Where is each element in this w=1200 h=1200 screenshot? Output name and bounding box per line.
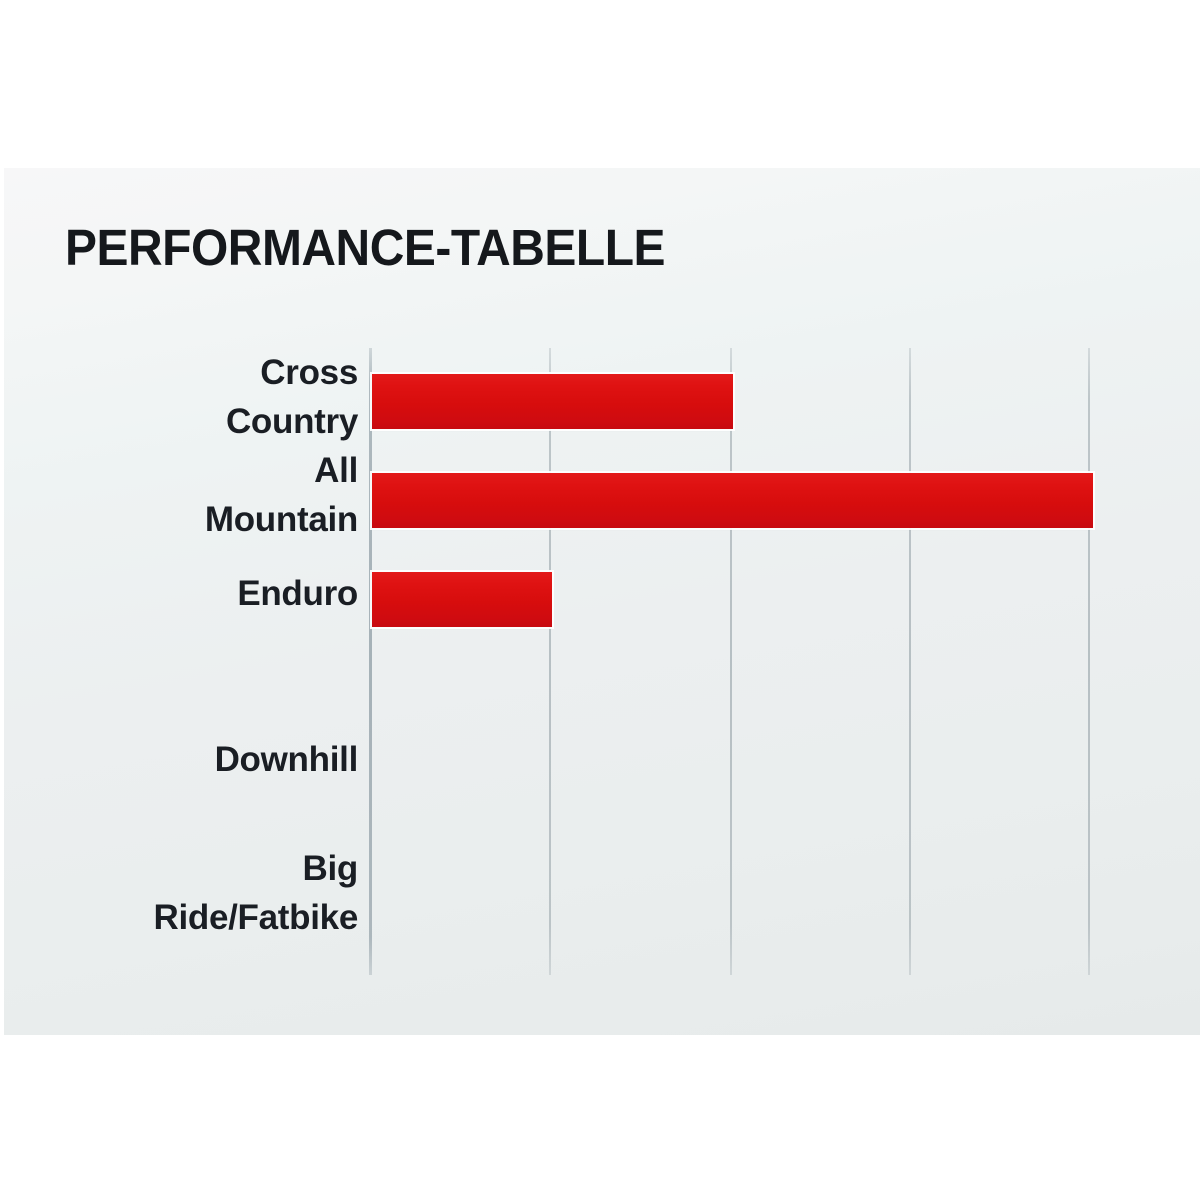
category-label-all-mountain: All Mountain bbox=[28, 446, 358, 544]
category-label-enduro: Enduro bbox=[28, 544, 358, 642]
category-label-cross-country: Cross Country bbox=[28, 348, 358, 446]
bar-cross-country bbox=[372, 374, 733, 429]
bar-enduro bbox=[372, 572, 552, 627]
plot-area bbox=[369, 348, 1094, 975]
chart-screenshot: PERFORMANCE-TABELLE Cross Country All Mo… bbox=[0, 0, 1200, 1200]
category-axis-labels: Cross Country All Mountain Enduro Downhi… bbox=[16, 348, 358, 975]
page-title: PERFORMANCE-TABELLE bbox=[65, 218, 665, 277]
category-label-big-ride-fatbike: Big Ride/Fatbike bbox=[28, 843, 358, 943]
bar-all-mountain bbox=[372, 473, 1093, 528]
category-label-downhill: Downhill bbox=[28, 729, 358, 789]
gridline-3 bbox=[909, 348, 911, 975]
value-axis-line bbox=[369, 348, 372, 975]
chart-panel: PERFORMANCE-TABELLE Cross Country All Mo… bbox=[4, 168, 1200, 1035]
gridline-2 bbox=[730, 348, 732, 975]
gridline-4 bbox=[1088, 348, 1090, 975]
gridline-1 bbox=[549, 348, 551, 975]
